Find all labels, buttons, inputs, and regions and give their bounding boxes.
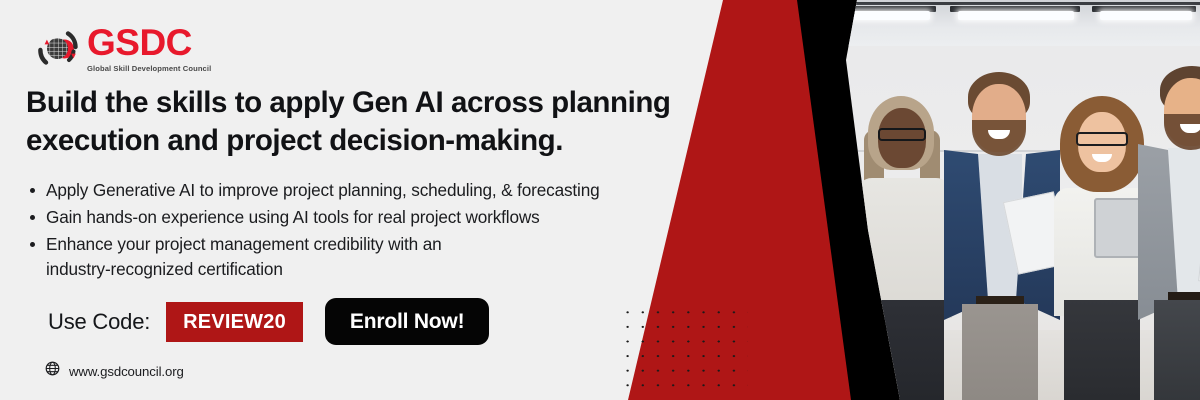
benefits-list: Apply Generative AI to improve project p… bbox=[30, 178, 820, 284]
logo-text: GSDC Global Skill Development Council bbox=[87, 24, 211, 73]
glasses-icon bbox=[1076, 132, 1128, 146]
list-item-label: Apply Generative AI to improve project p… bbox=[46, 178, 820, 203]
globe-icon bbox=[45, 361, 60, 381]
logo-tagline: Global Skill Development Council bbox=[87, 64, 211, 73]
glasses-icon bbox=[878, 128, 926, 141]
person-man-grey-blazer bbox=[1138, 0, 1200, 400]
list-item-label: Gain hands-on experience using AI tools … bbox=[46, 205, 820, 230]
promo-code-badge[interactable]: REVIEW20 bbox=[166, 302, 303, 342]
page-title: Build the skills to apply Gen AI across … bbox=[26, 84, 756, 160]
list-item: Enhance your project management credibil… bbox=[30, 232, 500, 282]
person-man-blue-suit bbox=[938, 0, 1060, 400]
list-item: Apply Generative AI to improve project p… bbox=[30, 178, 820, 203]
promo-banner: GSDC Global Skill Development Council Bu… bbox=[0, 0, 1200, 400]
bullet-dot-icon bbox=[30, 242, 35, 247]
enroll-now-button[interactable]: Enroll Now! bbox=[325, 298, 489, 345]
use-code-label: Use Code: bbox=[48, 309, 150, 335]
bullet-dot-icon bbox=[30, 215, 35, 220]
bullet-dot-icon bbox=[30, 188, 35, 193]
gsdc-logo: GSDC Global Skill Development Council bbox=[37, 24, 211, 73]
team-photo bbox=[838, 0, 1200, 400]
cta-row: Use Code: REVIEW20 Enroll Now! bbox=[48, 298, 489, 345]
list-item: Gain hands-on experience using AI tools … bbox=[30, 205, 820, 230]
website-link[interactable]: www.gsdcouncil.org bbox=[45, 361, 184, 381]
globe-icon bbox=[37, 26, 83, 72]
list-item-label: Enhance your project management credibil… bbox=[46, 232, 500, 282]
tablet bbox=[1094, 198, 1142, 258]
logo-wordmark: GSDC bbox=[87, 24, 211, 61]
website-url: www.gsdcouncil.org bbox=[69, 364, 184, 379]
banner-content: GSDC Global Skill Development Council Bu… bbox=[0, 0, 760, 400]
